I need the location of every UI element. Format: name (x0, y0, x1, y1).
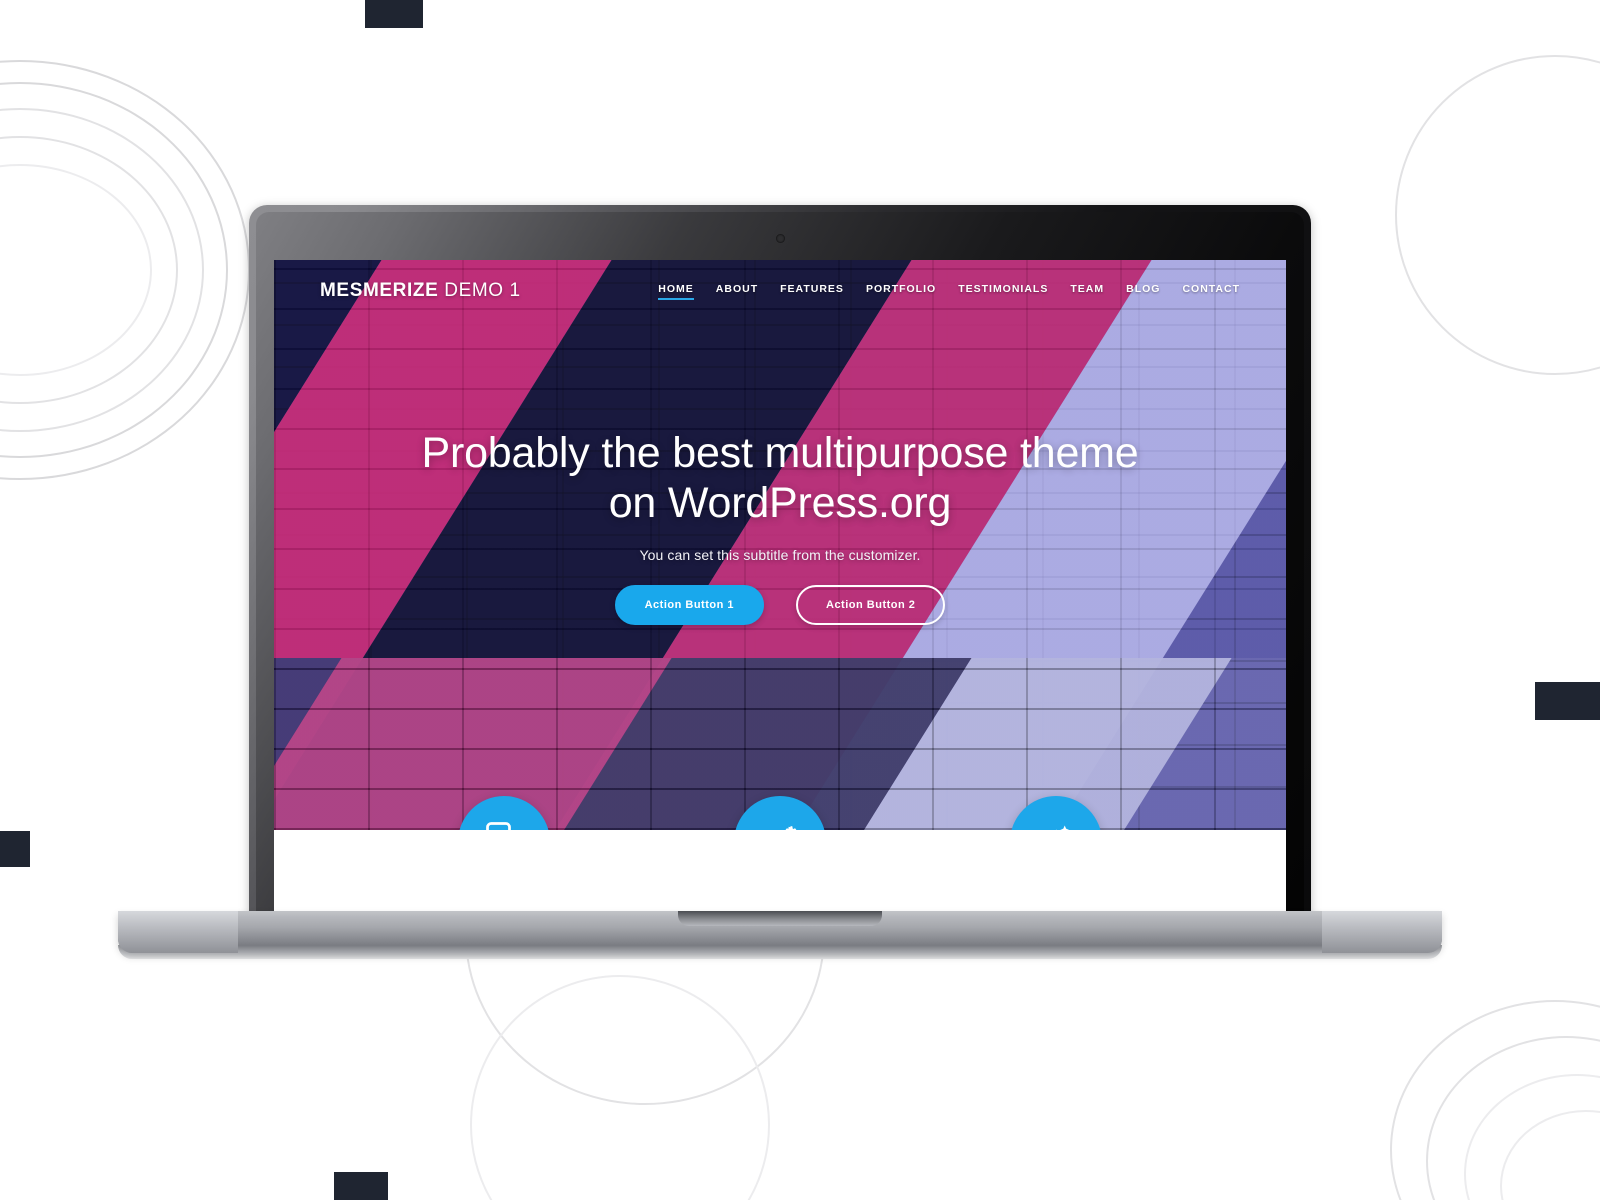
decorative-square-left (0, 831, 30, 867)
hero-content: Probably the best multipurpose theme on … (274, 428, 1286, 625)
nav-menu: HOME ABOUT FEATURES PORTFOLIO TESTIMONIA… (658, 283, 1240, 300)
nav-item-portfolio[interactable]: PORTFOLIO (866, 283, 936, 300)
nav-item-contact[interactable]: CONTACT (1182, 283, 1240, 300)
nav-item-features[interactable]: FEATURES (780, 283, 844, 300)
magic-wand-icon (1034, 818, 1078, 831)
action-button-2[interactable]: Action Button 2 (796, 585, 945, 625)
hero-title-line-2: on WordPress.org (274, 478, 1286, 528)
nav-item-blog[interactable]: BLOG (1126, 283, 1160, 300)
nav-item-home[interactable]: HOME (658, 283, 694, 300)
decorative-square-right (1535, 682, 1600, 720)
brand-light: DEMO 1 (444, 280, 520, 301)
action-button-1[interactable]: Action Button 1 (615, 585, 764, 625)
laptop-base-notch (678, 911, 882, 926)
page-canvas: MESMERIZE DEMO 1 HOME ABOUT FEATURES POR… (0, 0, 1600, 1200)
clone-icon (482, 818, 526, 831)
decorative-square-bottom (334, 1172, 388, 1200)
hero-button-group: Action Button 1 Action Button 2 (274, 585, 1286, 625)
decorative-ring-left-lower (470, 975, 770, 1200)
nav-item-about[interactable]: ABOUT (716, 283, 758, 300)
decorative-rings-bottom-right (1390, 1000, 1600, 1200)
feature-circle-clone[interactable] (458, 796, 550, 830)
feature-circle-cogs[interactable] (734, 796, 826, 830)
webcam-icon (776, 234, 785, 243)
cogs-icon (758, 818, 802, 831)
feature-circle-magic-wand[interactable] (1010, 796, 1102, 830)
feature-icon-row (274, 796, 1286, 830)
page-body-white-area (274, 830, 1286, 916)
decorative-square-top (365, 0, 423, 28)
laptop-lid: MESMERIZE DEMO 1 HOME ABOUT FEATURES POR… (249, 205, 1311, 916)
laptop-mockup: MESMERIZE DEMO 1 HOME ABOUT FEATURES POR… (118, 205, 1442, 965)
site-brand[interactable]: MESMERIZE DEMO 1 (320, 280, 521, 302)
hero-section: MESMERIZE DEMO 1 HOME ABOUT FEATURES POR… (274, 260, 1286, 830)
laptop-screen: MESMERIZE DEMO 1 HOME ABOUT FEATURES POR… (274, 260, 1286, 916)
hero-subtitle: You can set this subtitle from the custo… (274, 547, 1286, 563)
nav-item-testimonials[interactable]: TESTIMONIALS (958, 283, 1048, 300)
hero-title-line-1: Probably the best multipurpose theme (274, 428, 1286, 478)
hero-title: Probably the best multipurpose theme on … (274, 428, 1286, 529)
nav-item-team[interactable]: TEAM (1070, 283, 1104, 300)
brand-strong: MESMERIZE (320, 280, 438, 301)
laptop-bezel: MESMERIZE DEMO 1 HOME ABOUT FEATURES POR… (256, 212, 1304, 916)
site-navbar: MESMERIZE DEMO 1 HOME ABOUT FEATURES POR… (274, 260, 1286, 322)
